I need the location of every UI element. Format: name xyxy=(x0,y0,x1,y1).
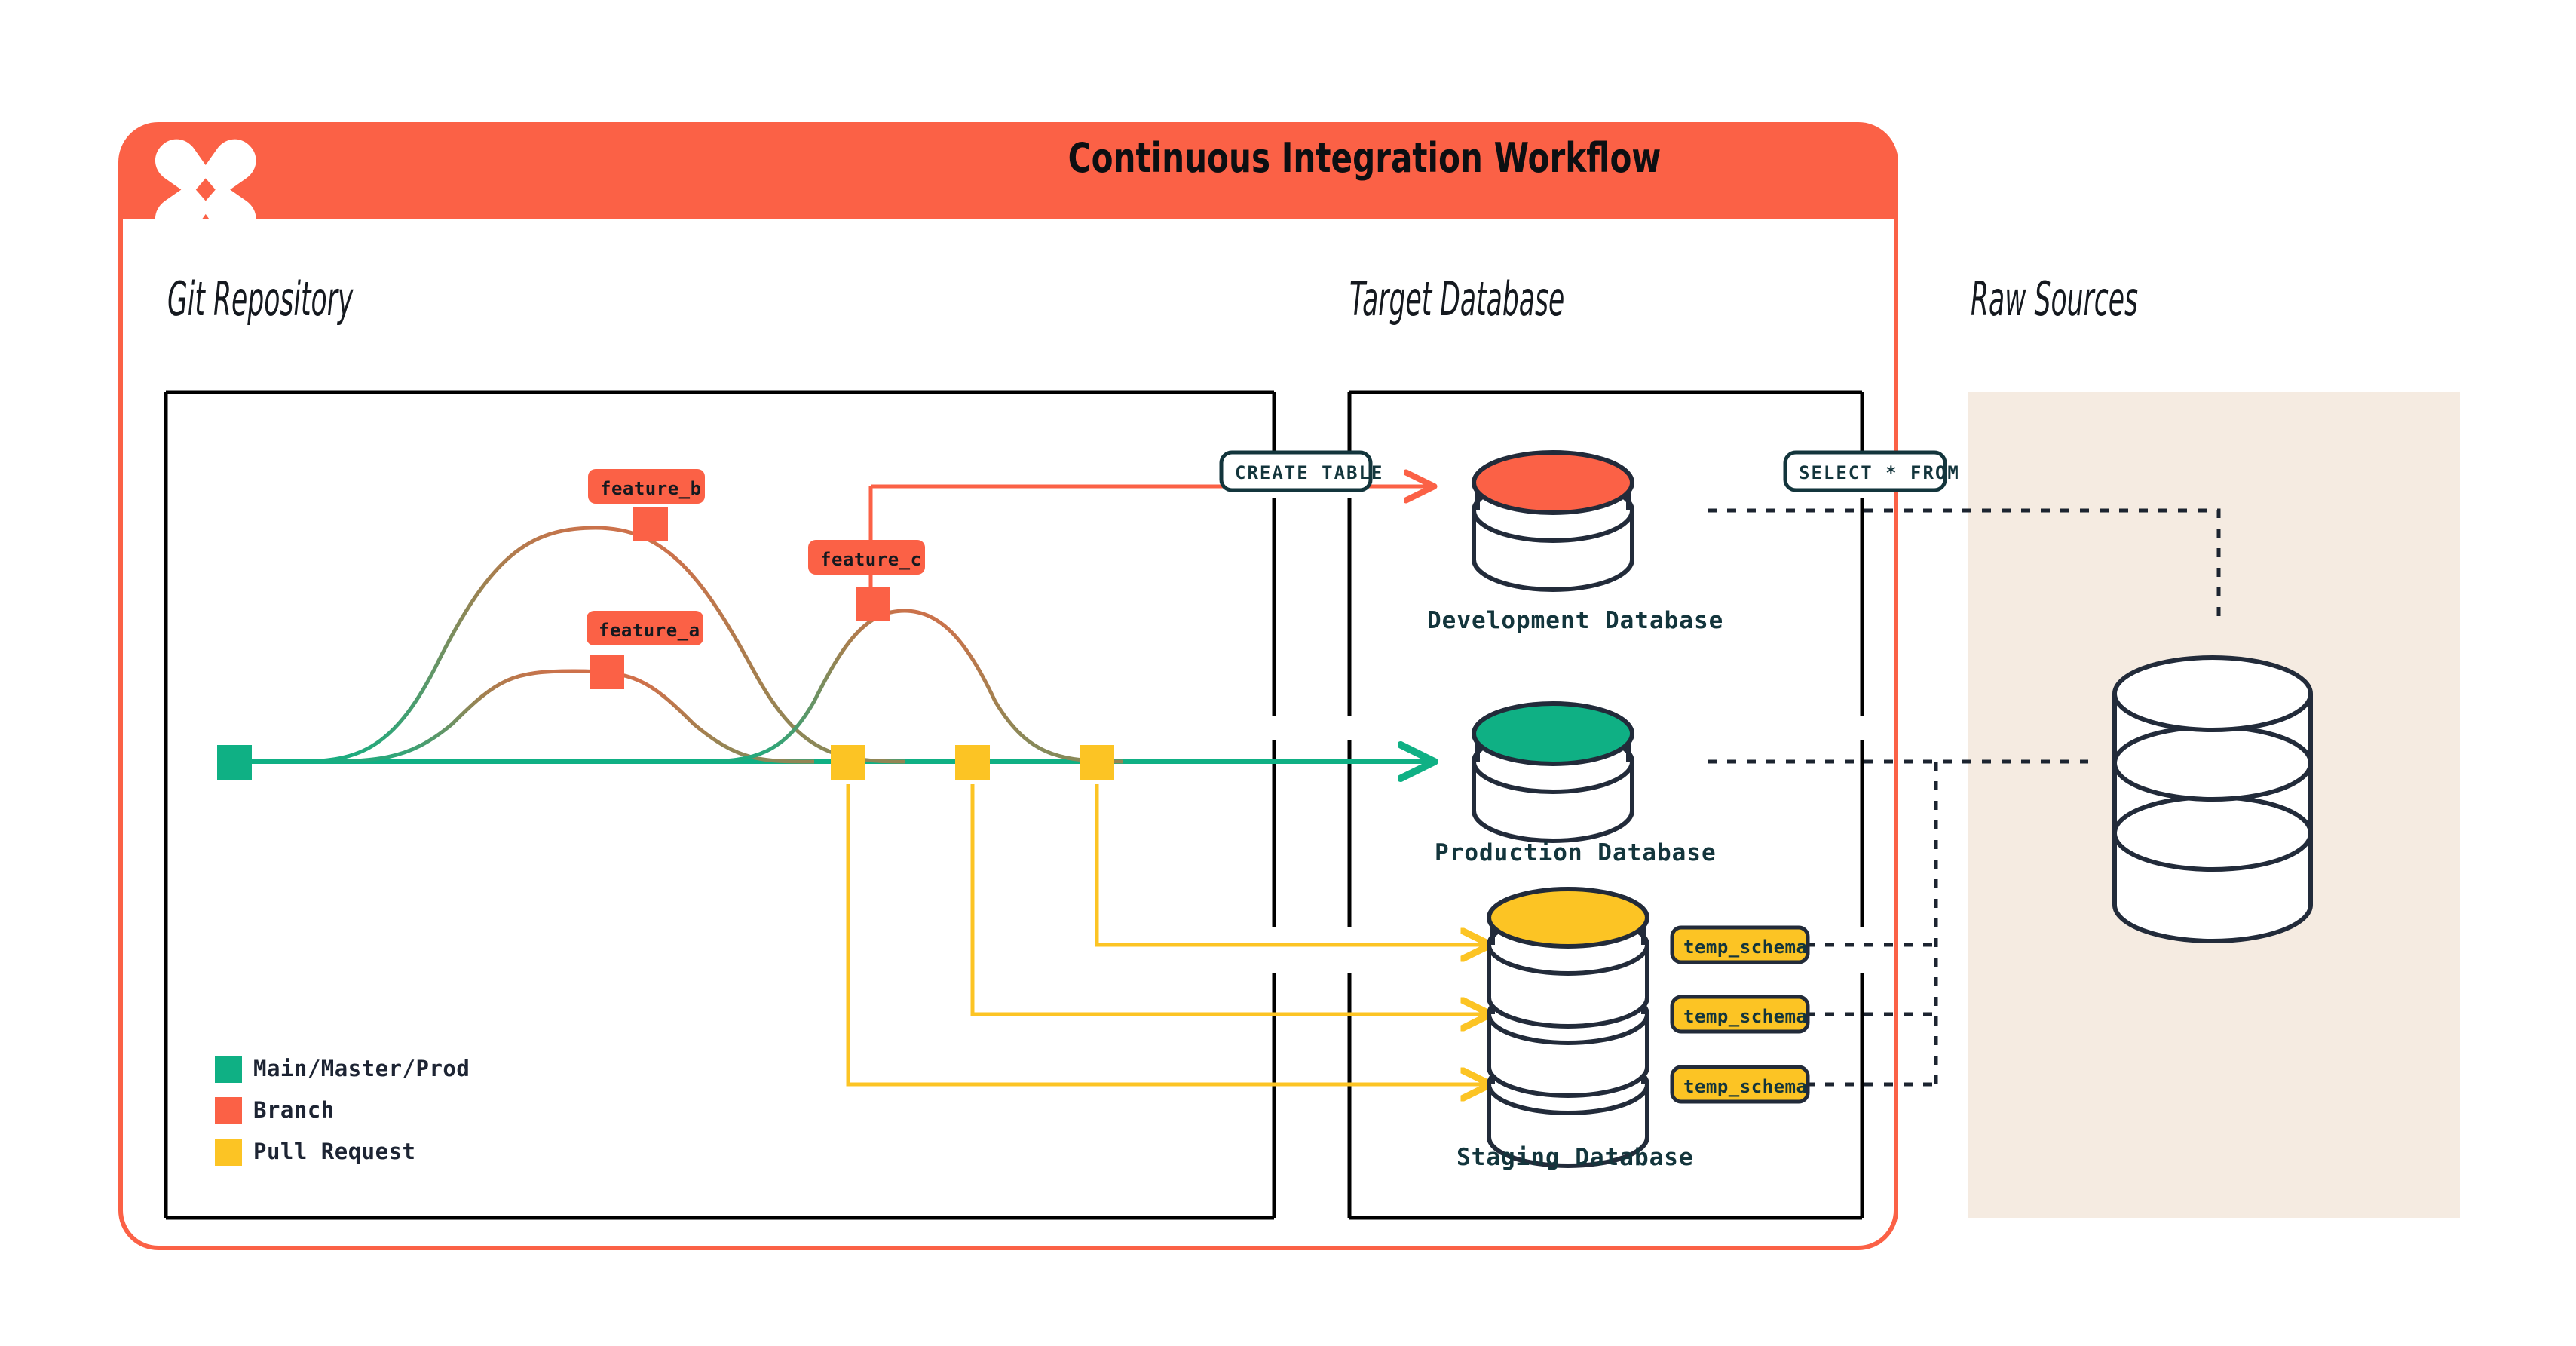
diagram-canvas: Continuous Integration Workflow Git Repo… xyxy=(0,0,2576,1346)
legend-label-main: Main/Master/Prod xyxy=(253,1056,470,1081)
legend-swatch-pull-request xyxy=(215,1139,242,1166)
legend-label-pull-request: Pull Request xyxy=(253,1139,416,1164)
development-database-cylinder xyxy=(1474,452,1632,590)
commit-node-feature-c xyxy=(856,587,890,621)
panel-heading-target-database: Target Database xyxy=(1349,271,1564,327)
legend-swatch-main xyxy=(215,1056,242,1083)
commit-node-pull-request-1 xyxy=(831,745,865,780)
sql-label-create-table: CREATE TABLE xyxy=(1235,462,1383,483)
schema-pill-label-2: temp_schema xyxy=(1683,1006,1807,1027)
branch-label-feature-b: feature_b xyxy=(600,478,702,499)
sql-label-select-from: SELECT * FROM xyxy=(1799,462,1960,483)
legend-swatch-branch xyxy=(215,1097,242,1124)
schema-pill-label-1: temp_schema xyxy=(1683,937,1807,958)
commit-node-feature-a xyxy=(590,655,624,689)
window-title: Continuous Integration Workflow xyxy=(982,134,1747,182)
legend-label-branch: Branch xyxy=(253,1097,335,1123)
staging-database-cylinder-stack xyxy=(1489,889,1647,1166)
branch-label-feature-c: feature_c xyxy=(820,549,922,570)
commit-node-feature-b xyxy=(633,507,668,541)
panel-heading-raw-sources: Raw Sources xyxy=(1971,271,2138,327)
production-database-cylinder xyxy=(1474,704,1632,841)
commit-node-main xyxy=(217,745,252,780)
schema-pill-label-3: temp_schema xyxy=(1683,1076,1807,1097)
commit-node-pull-request-3 xyxy=(1080,745,1114,780)
database-label-staging: Staging Database xyxy=(1456,1144,1694,1171)
database-label-production: Production Database xyxy=(1435,839,1717,866)
legend-swatches xyxy=(215,1056,242,1166)
branch-label-feature-a: feature_a xyxy=(599,620,700,641)
panel-heading-git-repository: Git Repository xyxy=(167,271,353,327)
database-label-development: Development Database xyxy=(1427,607,1723,634)
commit-node-pull-request-2 xyxy=(955,745,990,780)
raw-sources-cylinder xyxy=(2115,658,2311,941)
